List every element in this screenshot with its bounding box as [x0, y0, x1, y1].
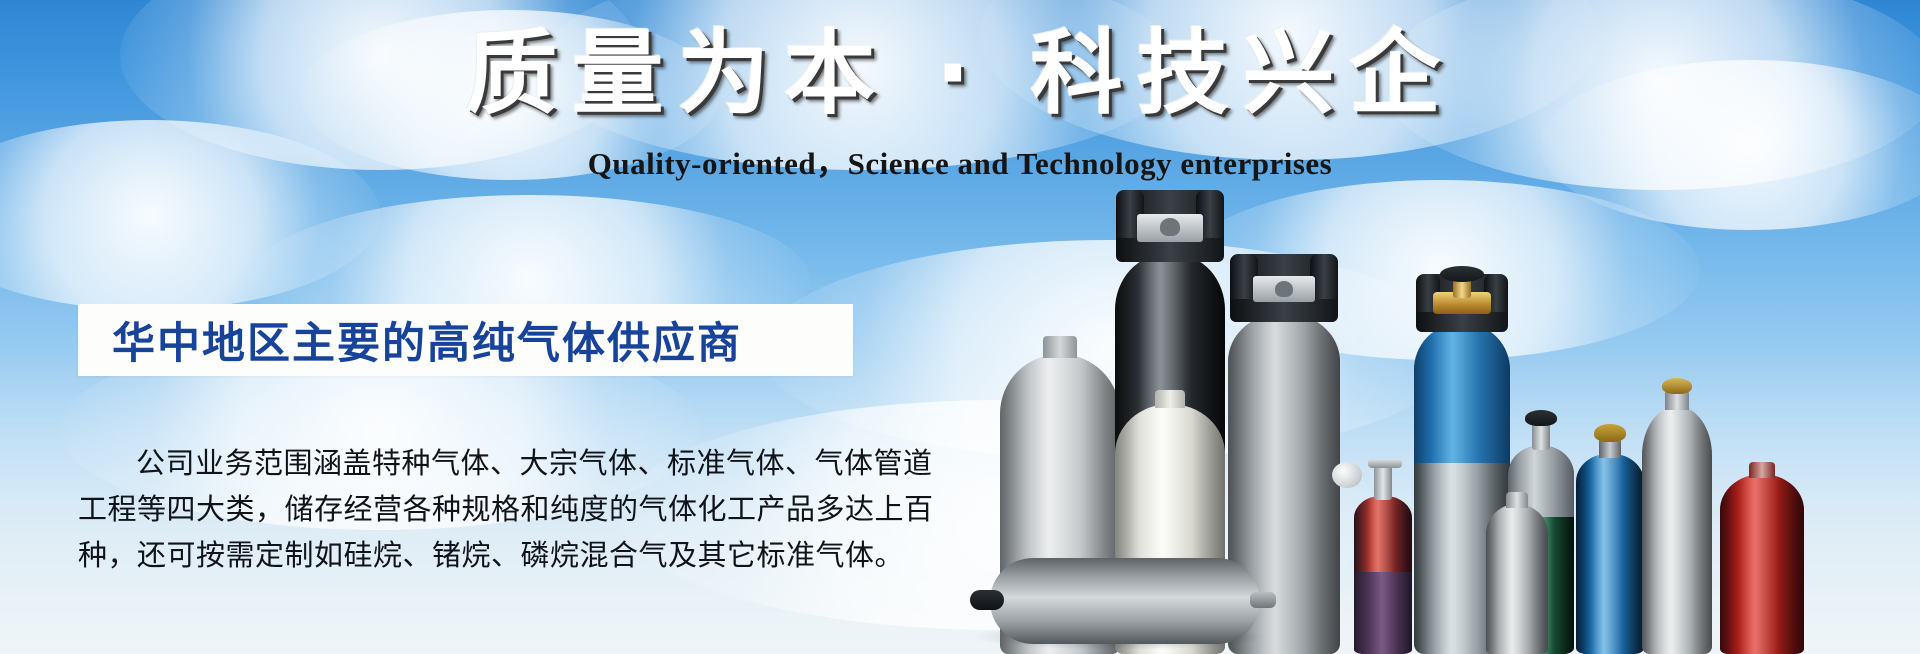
- cylinder-aluminium-tall: [1642, 374, 1712, 654]
- description-line-2: 工程等四大类，储存经营各种规格和纯度的气体化工产品多达上百: [78, 486, 868, 532]
- cylinder-blue-small: [1576, 419, 1644, 654]
- tagline-text: 华中地区主要的高纯气体供应商: [78, 309, 742, 371]
- cylinder-red-right: [1720, 454, 1804, 654]
- cylinder-handwheel: [1440, 266, 1484, 282]
- description-line-1: 公司业务范围涵盖特种气体、大宗气体、标准气体、气体管道: [78, 440, 868, 486]
- promo-banner: 质量为本 · 科技兴企 Quality-oriented，Science and…: [0, 0, 1920, 654]
- cylinder-lower-band: [1354, 572, 1412, 654]
- cylinder-horizontal: [970, 558, 1270, 644]
- cylinder-neck: [1043, 336, 1077, 358]
- tagline-strip: 华中地区主要的高纯气体供应商: [78, 304, 853, 376]
- cylinder-valve: [970, 590, 1004, 610]
- cylinder-shading: [1720, 474, 1804, 654]
- description-line-3: 种，还可按需定制如硅烷、锗烷、磷烷混合气及其它标准气体。: [78, 532, 868, 578]
- description-paragraph: 公司业务范围涵盖特种气体、大宗气体、标准气体、气体管道 工程等四大类，储存经营各…: [78, 440, 868, 578]
- cylinder-body: [1720, 474, 1804, 654]
- cylinder-valve: [1374, 466, 1392, 500]
- cylinder-shading: [1576, 454, 1644, 654]
- cylinder-blue-band: [1414, 324, 1510, 463]
- cylinder-body: [990, 558, 1260, 644]
- cylinder-valve-knob: [1160, 218, 1180, 236]
- cylinder-handle: [1368, 459, 1402, 468]
- cylinder-body: [1486, 504, 1548, 654]
- cylinder-valve-knob: [1662, 378, 1692, 394]
- cylinder-red-small: [1354, 459, 1412, 654]
- cylinder-regulator-gauge: [1332, 462, 1362, 488]
- cylinder-neck: [1506, 492, 1528, 508]
- cylinder-shading: [1486, 504, 1548, 654]
- cylinder-body: [1576, 454, 1644, 654]
- cylinder-neck: [1155, 390, 1185, 408]
- cylinder-neck: [1749, 462, 1775, 478]
- cylinder-valve-knob: [1525, 410, 1557, 426]
- cylinder-valve: [1532, 422, 1550, 450]
- cylinder-shading: [1642, 406, 1712, 654]
- cylinder-neck: [1250, 592, 1276, 608]
- cylinder-body: [1354, 496, 1412, 654]
- cylinder-aluminium-small: [1486, 484, 1548, 654]
- cylinder-valve-knob: [1594, 424, 1626, 442]
- cylinder-valve-knob: [1275, 281, 1293, 297]
- gas-cylinder-group: [930, 0, 1920, 654]
- cylinder-body: [1642, 406, 1712, 654]
